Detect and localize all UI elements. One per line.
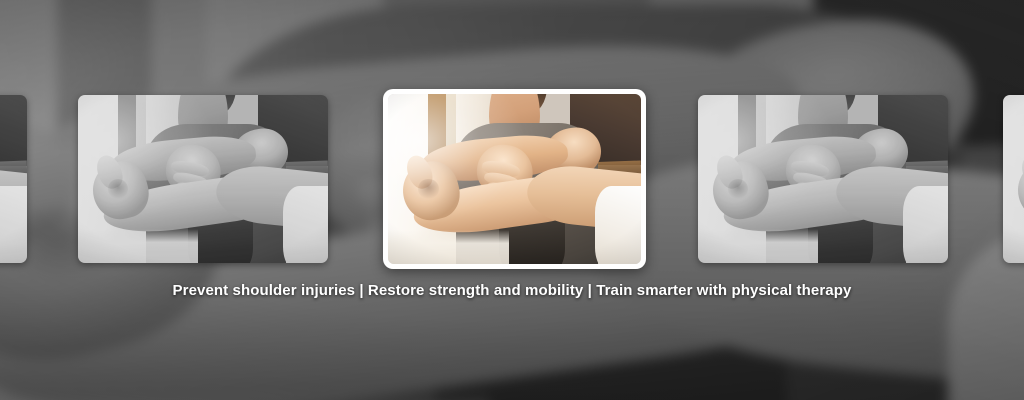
- carousel-slide-active[interactable]: [383, 89, 646, 269]
- carousel-slide-right[interactable]: [698, 95, 948, 263]
- carousel-slide-left[interactable]: [78, 95, 328, 263]
- slide-dim-overlay: [1003, 95, 1024, 263]
- photo-vignette: [388, 94, 641, 264]
- banner-caption-text: Prevent shoulder injuries | Restore stre…: [173, 281, 852, 301]
- carousel-banner: Prevent shoulder injuries | Restore stre…: [0, 0, 1024, 400]
- carousel-slide-far-left[interactable]: [0, 95, 27, 263]
- slide-dim-overlay: [698, 95, 948, 263]
- carousel-track[interactable]: [0, 89, 1024, 269]
- featured-image: [388, 94, 641, 264]
- carousel-slide-far-right[interactable]: [1003, 95, 1024, 263]
- banner-caption: Prevent shoulder injuries | Restore stre…: [0, 281, 1024, 301]
- photo-artwork: [388, 94, 641, 264]
- slide-dim-overlay: [0, 95, 27, 263]
- slide-dim-overlay: [78, 95, 328, 263]
